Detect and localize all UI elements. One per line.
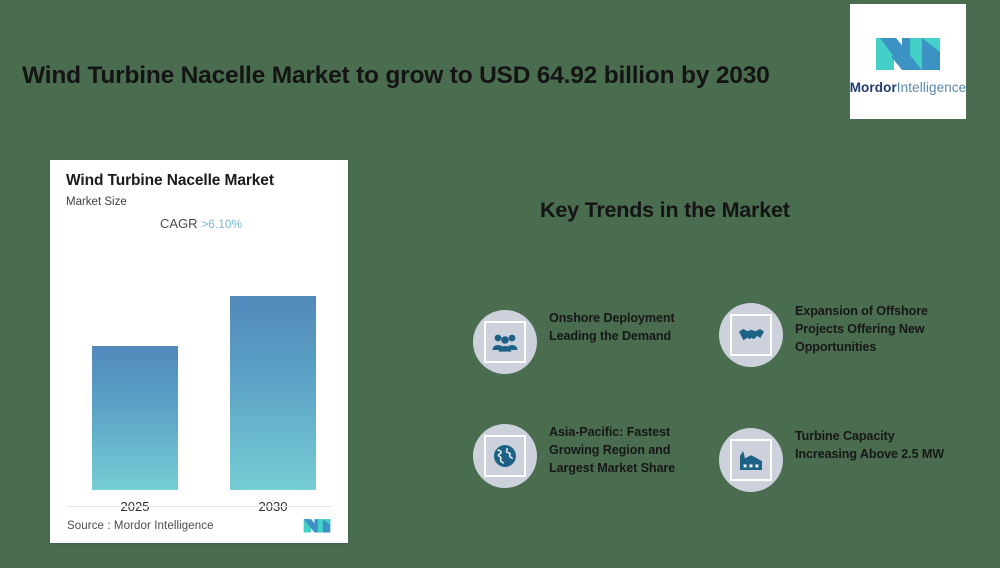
- factory-icon: [719, 428, 783, 492]
- chart-title: Wind Turbine Nacelle Market: [66, 172, 338, 190]
- icon-frame: [730, 314, 772, 356]
- people-group-icon: [473, 310, 537, 374]
- cagr-annotation: CAGR >6.10%: [160, 216, 242, 231]
- card-divider: [66, 506, 332, 507]
- bar-2030: [230, 296, 316, 490]
- icon-frame: [484, 435, 526, 477]
- icon-frame: [484, 321, 526, 363]
- brand-logo: MordorIntelligence: [850, 4, 966, 119]
- cagr-value: >6.10%: [201, 217, 242, 231]
- bar-2025: [92, 346, 178, 490]
- globe-asia-icon: [473, 424, 537, 488]
- trend-item-offshore-expansion: Expansion of Offshore Projects Offering …: [719, 303, 945, 367]
- brand-logo-wordmark: MordorIntelligence: [850, 80, 967, 95]
- brand-name-light: Intelligence: [897, 80, 967, 95]
- cagr-label: CAGR: [160, 216, 198, 231]
- market-size-chart-card: Wind Turbine Nacelle Market Market Size …: [50, 160, 348, 543]
- mordor-m-logo-icon: [872, 28, 944, 76]
- chart-subtitle: Market Size: [66, 196, 127, 208]
- brand-name-bold: Mordor: [850, 80, 897, 95]
- mordor-m-logo-icon-small: [302, 515, 332, 535]
- trend-item-onshore-deployment: Onshore Deployment Leading the Demand: [473, 310, 699, 374]
- handshake-icon: [719, 303, 783, 367]
- source-label: Source : Mordor Intelligence: [67, 520, 214, 532]
- trend-item-asia-pacific: Asia-Pacific: Fastest Growing Region and…: [473, 424, 699, 488]
- icon-frame: [730, 439, 772, 481]
- trend-label: Onshore Deployment Leading the Demand: [549, 310, 699, 346]
- trend-label: Expansion of Offshore Projects Offering …: [795, 303, 945, 357]
- trend-item-turbine-capacity: Turbine Capacity Increasing Above 2.5 MW: [719, 428, 945, 492]
- trend-label: Turbine Capacity Increasing Above 2.5 MW: [795, 428, 945, 464]
- trend-label: Asia-Pacific: Fastest Growing Region and…: [549, 424, 699, 478]
- key-trends-heading: Key Trends in the Market: [540, 198, 960, 223]
- infographic-canvas: MordorIntelligence Wind Turbine Nacelle …: [0, 0, 1000, 568]
- page-title: Wind Turbine Nacelle Market to grow to U…: [22, 62, 822, 90]
